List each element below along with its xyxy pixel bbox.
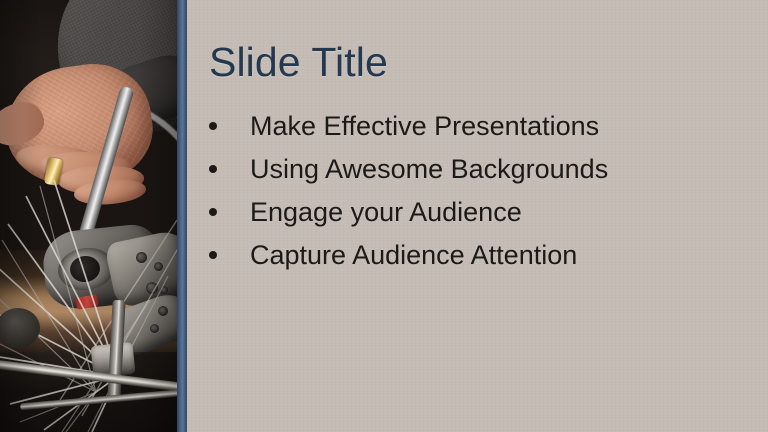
page-title[interactable]: Slide Title (209, 36, 388, 88)
list-item[interactable]: Capture Audience Attention (203, 237, 755, 280)
photo-vignette (0, 0, 177, 432)
bullet-point-icon (209, 165, 217, 173)
bullet-list: Make Effective Presentations Using Aweso… (203, 108, 755, 280)
presentation-slide: Slide Title Make Effective Presentations… (0, 0, 768, 432)
list-item[interactable]: Make Effective Presentations (203, 108, 755, 151)
list-item-label: Capture Audience Attention (250, 237, 577, 273)
bullet-point-icon (209, 122, 217, 130)
list-item[interactable]: Using Awesome Backgrounds (203, 151, 755, 194)
bullet-point-icon (209, 251, 217, 259)
list-item-label: Engage your Audience (250, 194, 522, 230)
list-item-label: Using Awesome Backgrounds (250, 151, 608, 187)
slide-photo (0, 0, 177, 432)
slide-content-area: Slide Title Make Effective Presentations… (187, 0, 768, 432)
bullet-point-icon (209, 208, 217, 216)
list-item[interactable]: Engage your Audience (203, 194, 755, 237)
accent-divider-bar (177, 0, 187, 432)
list-item-label: Make Effective Presentations (250, 108, 599, 144)
